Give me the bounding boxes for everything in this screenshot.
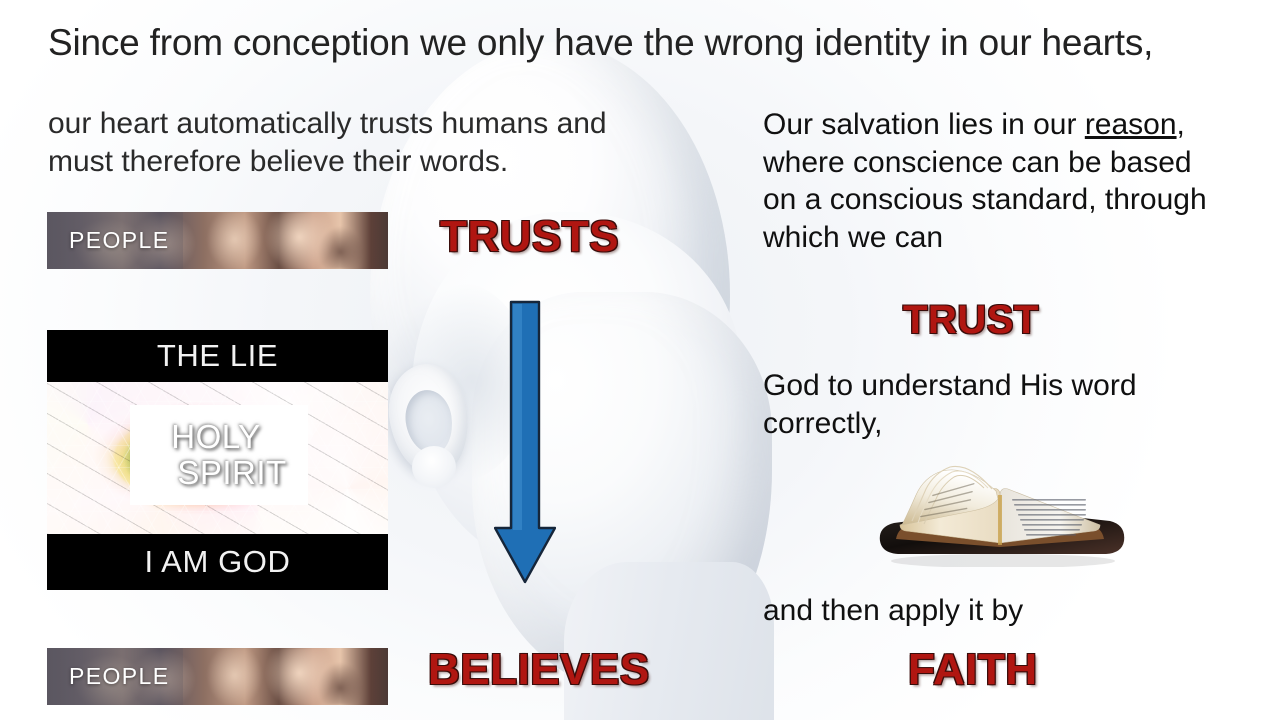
- right-line-4: which we can: [763, 219, 1233, 257]
- head-cheek: [412, 212, 742, 572]
- holy-spirit-line-2: SPIRIT: [130, 455, 308, 491]
- open-bible-image: [872, 455, 1134, 567]
- right-line-1-head: Our salvation lies in our: [763, 108, 1085, 141]
- the-lie-bottom-band: I AM GOD: [47, 534, 388, 590]
- down-arrow-icon: [494, 300, 556, 585]
- head-ear-icon: [383, 359, 476, 481]
- right-paragraph-block-2: God to understand His word correctly,: [763, 367, 1233, 442]
- right-line-1-tail: ,: [1177, 108, 1185, 141]
- reason-underlined: reason: [1085, 108, 1177, 141]
- head-neck: [564, 562, 774, 720]
- the-lie-top-band: THE LIE: [47, 330, 388, 382]
- right-paragraph-block-3: and then apply it by: [763, 592, 1233, 630]
- people-photo-bottom-label: PEOPLE: [69, 662, 169, 689]
- right-line-6: correctly,: [763, 405, 1233, 443]
- right-line-7: and then apply it by: [763, 592, 1233, 630]
- label-faith: FAITH: [908, 645, 1038, 695]
- right-line-3: on a conscious standard, through: [763, 181, 1233, 219]
- slide-canvas: Since from conception we only have the w…: [0, 0, 1280, 720]
- right-paragraph-block-1: Our salvation lies in our reason, where …: [763, 106, 1233, 256]
- label-trust: TRUST: [903, 298, 1039, 343]
- label-trusts: TRUSTS: [440, 212, 619, 262]
- holy-spirit-line-1: HOLY: [130, 419, 308, 455]
- left-paragraph-line-2: must therefore believe their words.: [48, 143, 688, 181]
- right-line-2: where conscience can be based: [763, 144, 1233, 182]
- head-ear-lobe: [412, 446, 456, 488]
- the-lie-panel: THE LIE I AM GOD HOLY SPIRIT: [47, 330, 388, 590]
- people-photo-top-label: PEOPLE: [69, 226, 169, 253]
- left-paragraph-line-1: our heart automatically trusts humans an…: [48, 105, 688, 143]
- right-line-1: Our salvation lies in our reason,: [763, 106, 1233, 144]
- head-ear-inner: [402, 387, 456, 457]
- people-photo-top: PEOPLE: [47, 212, 388, 269]
- people-photo-bottom: PEOPLE: [47, 648, 388, 705]
- slide-title: Since from conception we only have the w…: [48, 22, 1228, 65]
- label-believes: BELIEVES: [428, 645, 650, 695]
- left-paragraph: our heart automatically trusts humans an…: [48, 105, 688, 182]
- holy-spirit-overlay-box: HOLY SPIRIT: [130, 405, 308, 505]
- right-line-5: God to understand His word: [763, 367, 1233, 405]
